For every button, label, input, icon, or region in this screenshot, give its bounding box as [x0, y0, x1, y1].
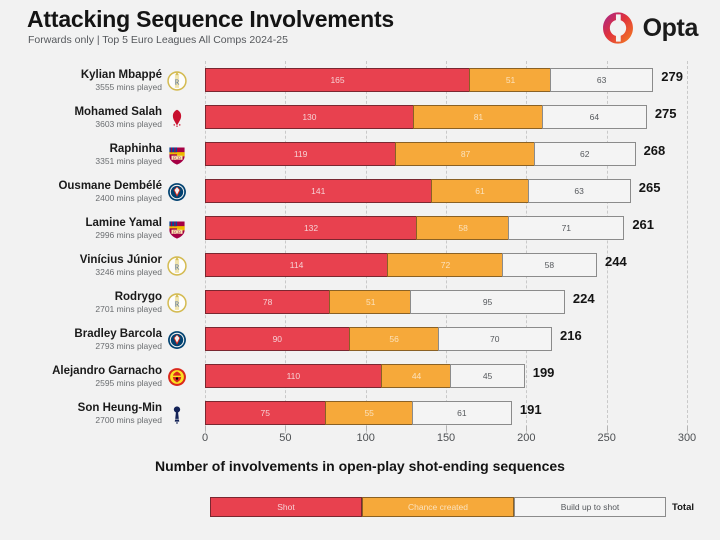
bar-segment-build-up[interactable]: 64: [542, 105, 647, 129]
bar-segment-chance-created[interactable]: 51: [329, 290, 412, 314]
liverpool-crest-icon: [166, 107, 188, 129]
bar-segment-chance-created[interactable]: 51: [469, 68, 552, 92]
bar-value-shot: 165: [330, 75, 344, 85]
bar-value-chance-created: 72: [441, 260, 450, 270]
player-label: Alejandro Garnacho2595 mins played: [2, 365, 162, 389]
bar-value-build-up: 64: [590, 112, 599, 122]
player-minutes: 2793 mins played: [2, 341, 162, 352]
bar-value-build-up: 45: [483, 371, 492, 381]
chart-plot-area: Kylian Mbappé3555 mins played R165516327…: [0, 58, 720, 448]
bar-segment-build-up[interactable]: 70: [438, 327, 552, 351]
player-label: Raphinha3351 mins played: [2, 143, 162, 167]
table-row: Son Heung-Min2700 mins played 755561191: [0, 399, 720, 436]
bar-value-shot: 90: [273, 334, 282, 344]
legend-bar: ShotChance createdBuild up to shot: [210, 497, 666, 517]
bar-value-chance-created: 81: [474, 112, 483, 122]
bar-value-shot: 130: [302, 112, 316, 122]
bar-segment-shot[interactable]: 75: [205, 401, 326, 425]
player-name: Ousmane Dembélé: [2, 180, 162, 193]
bar-segment-build-up[interactable]: 95: [410, 290, 565, 314]
bar-total-label: 199: [533, 365, 555, 380]
bar-value-chance-created: 51: [506, 75, 515, 85]
player-minutes: 2700 mins played: [2, 415, 162, 426]
stacked-bar: 755561: [205, 401, 512, 425]
bar-segment-shot[interactable]: 110: [205, 364, 382, 388]
x-axis: 050100150200250300: [0, 432, 720, 452]
player-label: Vinícius Júnior3246 mins played: [2, 254, 162, 278]
bar-value-shot: 110: [287, 371, 301, 381]
x-tick-mark-50: [285, 426, 286, 431]
real-madrid-crest-icon: R: [166, 70, 188, 92]
player-label: Son Heung-Min2700 mins played: [2, 402, 162, 426]
player-name: Alejandro Garnacho: [2, 365, 162, 378]
bar-segment-chance-created[interactable]: 55: [325, 401, 414, 425]
bar-value-shot: 114: [290, 260, 304, 270]
stacked-bar: 1308164: [205, 105, 647, 129]
player-name: Lamine Yamal: [2, 217, 162, 230]
bar-segment-build-up[interactable]: 62: [534, 142, 636, 166]
player-name: Raphinha: [2, 143, 162, 156]
player-name: Son Heung-Min: [2, 402, 162, 415]
bar-value-shot: 75: [261, 408, 270, 418]
bar-total-label: 191: [520, 402, 542, 417]
bar-segment-chance-created[interactable]: 56: [349, 327, 440, 351]
x-tick-label-100: 100: [356, 432, 374, 444]
player-minutes: 3246 mins played: [2, 267, 162, 278]
bar-value-build-up: 95: [483, 297, 492, 307]
legend-item-build-up-to-shot[interactable]: Build up to shot: [514, 497, 666, 517]
bar-value-shot: 132: [304, 223, 318, 233]
x-axis-title: Number of involvements in open-play shot…: [0, 458, 720, 474]
bar-value-build-up: 70: [490, 334, 499, 344]
bar-value-chance-created: 51: [366, 297, 375, 307]
man-utd-crest-icon: [166, 366, 188, 388]
x-tick-label-250: 250: [597, 432, 615, 444]
table-row: Raphinha3351 mins played FCB1198762268: [0, 140, 720, 177]
bar-value-chance-created: 55: [364, 408, 373, 418]
player-label: Kylian Mbappé3555 mins played: [2, 69, 162, 93]
bar-segment-chance-created[interactable]: 81: [413, 105, 544, 129]
stacked-bar: 1325871: [205, 216, 624, 240]
bar-segment-build-up[interactable]: 58: [502, 253, 597, 277]
bar-segment-shot[interactable]: 132: [205, 216, 417, 240]
bar-segment-chance-created[interactable]: 72: [387, 253, 504, 277]
svg-text:FCB: FCB: [173, 229, 181, 234]
bar-total-label: 224: [573, 291, 595, 306]
bar-segment-build-up[interactable]: 61: [412, 401, 512, 425]
opta-logo-icon: [601, 11, 635, 45]
real-madrid-crest-icon: R: [166, 292, 188, 314]
player-minutes: 2996 mins played: [2, 230, 162, 241]
player-minutes: 3555 mins played: [2, 82, 162, 93]
bar-value-chance-created: 61: [475, 186, 484, 196]
svg-text:R: R: [175, 264, 180, 271]
stacked-bar: 1147258: [205, 253, 597, 277]
psg-crest-icon: [166, 329, 188, 351]
chart-legend: ShotChance createdBuild up to shot Total: [0, 494, 720, 524]
real-madrid-crest-icon: R: [166, 255, 188, 277]
opta-brand-name: Opta: [643, 14, 698, 43]
table-row: Ousmane Dembélé2400 mins played 14161632…: [0, 177, 720, 214]
table-row: Rodrygo2701 mins played R785195224: [0, 288, 720, 325]
x-tick-mark-0: [205, 426, 206, 431]
player-label: Ousmane Dembélé2400 mins played: [2, 180, 162, 204]
bar-total-label: 268: [644, 143, 666, 158]
player-label: Mohamed Salah3603 mins played: [2, 106, 162, 130]
bar-segment-chance-created[interactable]: 87: [395, 142, 536, 166]
bar-value-shot: 119: [294, 149, 308, 159]
player-name: Mohamed Salah: [2, 106, 162, 119]
player-minutes: 2701 mins played: [2, 304, 162, 315]
svg-text:FCB: FCB: [173, 155, 181, 160]
bar-value-chance-created: 87: [461, 149, 470, 159]
chart-subtitle: Forwards only | Top 5 Euro Leagues All C…: [28, 34, 288, 46]
bar-value-chance-created: 56: [389, 334, 398, 344]
bar-total-label: 275: [655, 106, 677, 121]
bar-total-label: 265: [639, 180, 661, 195]
psg-crest-icon: [166, 181, 188, 203]
table-row: Mohamed Salah3603 mins played 1308164275: [0, 103, 720, 140]
player-minutes: 2595 mins played: [2, 378, 162, 389]
stacked-bar: 1198762: [205, 142, 636, 166]
legend-item-label: Chance created: [408, 502, 468, 512]
bar-segment-shot[interactable]: 141: [205, 179, 432, 203]
bar-segment-shot[interactable]: 130: [205, 105, 414, 129]
stacked-bar: 1104445: [205, 364, 525, 388]
bar-value-build-up: 58: [545, 260, 554, 270]
x-tick-mark-250: [607, 426, 608, 431]
page-title: Attacking Sequence Involvements: [27, 6, 394, 33]
player-name: Bradley Barcola: [2, 328, 162, 341]
x-tick-label-0: 0: [202, 432, 208, 444]
bar-segment-shot[interactable]: 119: [205, 142, 396, 166]
legend-item-label: Build up to shot: [561, 502, 620, 512]
x-tick-mark-150: [446, 426, 447, 431]
player-name: Vinícius Júnior: [2, 254, 162, 267]
bar-value-chance-created: 58: [458, 223, 467, 233]
opta-brand: Opta: [601, 11, 698, 45]
stacked-bar: 1416163: [205, 179, 631, 203]
bar-total-label: 261: [632, 217, 654, 232]
bar-segment-shot[interactable]: 165: [205, 68, 470, 92]
legend-item-shot[interactable]: Shot: [210, 497, 362, 517]
bar-value-build-up: 63: [597, 75, 606, 85]
player-name: Rodrygo: [2, 291, 162, 304]
chart-header: Attacking Sequence Involvements Forwards…: [0, 0, 720, 58]
player-minutes: 2400 mins played: [2, 193, 162, 204]
bar-segment-build-up[interactable]: 63: [528, 179, 631, 203]
stacked-bar: 1655163: [205, 68, 653, 92]
bar-segment-build-up[interactable]: 63: [550, 68, 653, 92]
x-tick-mark-100: [366, 426, 367, 431]
player-minutes: 3603 mins played: [2, 119, 162, 130]
x-tick-label-50: 50: [279, 432, 291, 444]
legend-total-label: Total: [672, 502, 694, 513]
bar-value-build-up: 61: [457, 408, 466, 418]
bar-total-label: 216: [560, 328, 582, 343]
svg-text:R: R: [175, 79, 180, 86]
player-label: Bradley Barcola2793 mins played: [2, 328, 162, 352]
bar-segment-shot[interactable]: 90: [205, 327, 350, 351]
bar-total-label: 244: [605, 254, 627, 269]
table-row: Vinícius Júnior3246 mins played R1147258…: [0, 251, 720, 288]
bar-segment-chance-created[interactable]: 58: [416, 216, 510, 240]
x-tick-label-300: 300: [678, 432, 696, 444]
player-label: Rodrygo2701 mins played: [2, 291, 162, 315]
barcelona-crest-icon: FCB: [166, 144, 188, 166]
bar-segment-build-up[interactable]: 71: [508, 216, 624, 240]
legend-item-chance-created[interactable]: Chance created: [362, 497, 514, 517]
table-row: Alejandro Garnacho2595 mins played 11044…: [0, 362, 720, 399]
x-tick-mark-300: [687, 426, 688, 431]
bar-value-build-up: 63: [574, 186, 583, 196]
legend-item-label: Shot: [277, 502, 295, 512]
bar-segment-shot[interactable]: 78: [205, 290, 330, 314]
bar-segment-chance-created[interactable]: 61: [431, 179, 530, 203]
table-row: Kylian Mbappé3555 mins played R165516327…: [0, 66, 720, 103]
bar-total-label: 279: [661, 69, 683, 84]
bar-value-build-up: 62: [580, 149, 589, 159]
bar-value-chance-created: 44: [412, 371, 421, 381]
bar-value-shot: 78: [263, 297, 272, 307]
bar-value-shot: 141: [311, 186, 325, 196]
player-name: Kylian Mbappé: [2, 69, 162, 82]
svg-text:R: R: [175, 301, 180, 308]
table-row: Lamine Yamal2996 mins played FCB13258712…: [0, 214, 720, 251]
bar-segment-shot[interactable]: 114: [205, 253, 388, 277]
bar-value-build-up: 71: [562, 223, 571, 233]
player-label: Lamine Yamal2996 mins played: [2, 217, 162, 241]
x-tick-label-200: 200: [517, 432, 535, 444]
tottenham-crest-icon: [166, 403, 188, 425]
x-tick-mark-200: [526, 426, 527, 431]
x-tick-label-150: 150: [437, 432, 455, 444]
table-row: Bradley Barcola2793 mins played 90567021…: [0, 325, 720, 362]
bar-segment-chance-created[interactable]: 44: [381, 364, 453, 388]
stacked-bar: 905670: [205, 327, 552, 351]
bar-segment-build-up[interactable]: 45: [450, 364, 524, 388]
stacked-bar: 785195: [205, 290, 565, 314]
barcelona-crest-icon: FCB: [166, 218, 188, 240]
player-minutes: 3351 mins played: [2, 156, 162, 167]
